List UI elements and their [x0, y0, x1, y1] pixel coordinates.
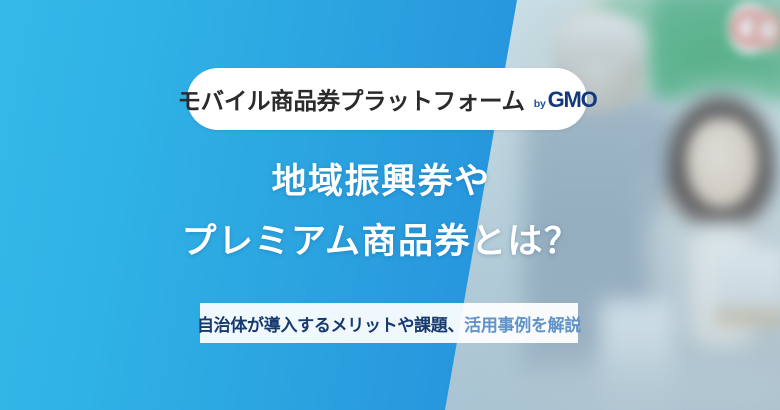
subtitle-strong-text: 自治体が導入するメリットや課題、	[197, 311, 464, 336]
banner-content: モバイル商品券プラットフォーム by GMO 地域振興券や プレミアム商品券とは…	[0, 0, 780, 410]
headline: 地域振興券や プレミアム商品券とは？	[0, 152, 780, 272]
product-name-label: モバイル商品券プラットフォーム	[177, 82, 524, 116]
hero-banner: モバイル商品券プラットフォーム by GMO 地域振興券や プレミアム商品券とは…	[0, 0, 780, 410]
headline-line-1: 地域振興券や	[0, 152, 771, 212]
subtitle-light-text: 活用事例を解説	[464, 311, 581, 336]
gmo-wordmark: GMO	[548, 87, 597, 113]
subtitle-bar: 自治体が導入するメリットや課題、 活用事例を解説	[200, 303, 578, 343]
by-gmo-lockup: by GMO	[534, 87, 597, 113]
headline-line-2: プレミアム商品券とは？	[0, 212, 771, 272]
by-label: by	[534, 98, 546, 110]
product-logo-badge: モバイル商品券プラットフォーム by GMO	[187, 68, 587, 130]
